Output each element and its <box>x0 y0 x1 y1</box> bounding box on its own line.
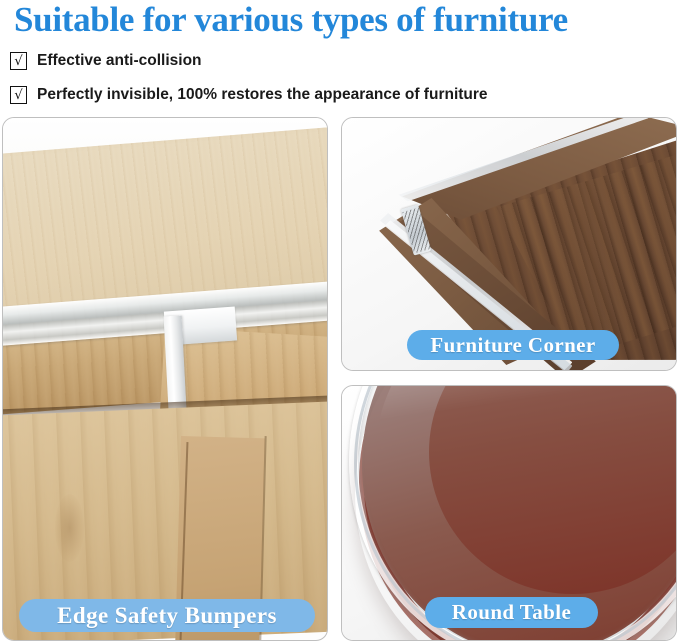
list-item: √ Perfectly invisible, 100% restores the… <box>10 82 670 108</box>
product-photo-oak-desk-edge <box>3 118 327 640</box>
feature-bullet-list: √ Effective anti-collision √ Perfectly i… <box>10 48 670 116</box>
wood-grain-knot <box>55 494 84 562</box>
photo-panel-furniture-corner: Furniture Corner <box>341 117 677 371</box>
caption-badge-round-table: Round Table <box>425 597 598 628</box>
caption-badge-edge-safety-bumpers: Edge Safety Bumpers <box>19 599 315 632</box>
checkmark-icon: √ <box>10 52 27 70</box>
feature-bullet-text: Perfectly invisible, 100% restores the a… <box>37 86 488 104</box>
list-item: √ Effective anti-collision <box>10 48 670 74</box>
photo-panel-edge-safety-bumpers: Edge Safety Bumpers <box>2 117 328 641</box>
product-feature-image: Suitable for various types of furniture … <box>0 0 679 643</box>
caption-badge-furniture-corner: Furniture Corner <box>407 330 619 360</box>
checkmark-icon: √ <box>10 86 27 104</box>
feature-bullet-text: Effective anti-collision <box>37 52 202 70</box>
photo-panel-round-table: Round Table <box>341 385 677 641</box>
page-title: Suitable for various types of furniture <box>14 0 669 40</box>
